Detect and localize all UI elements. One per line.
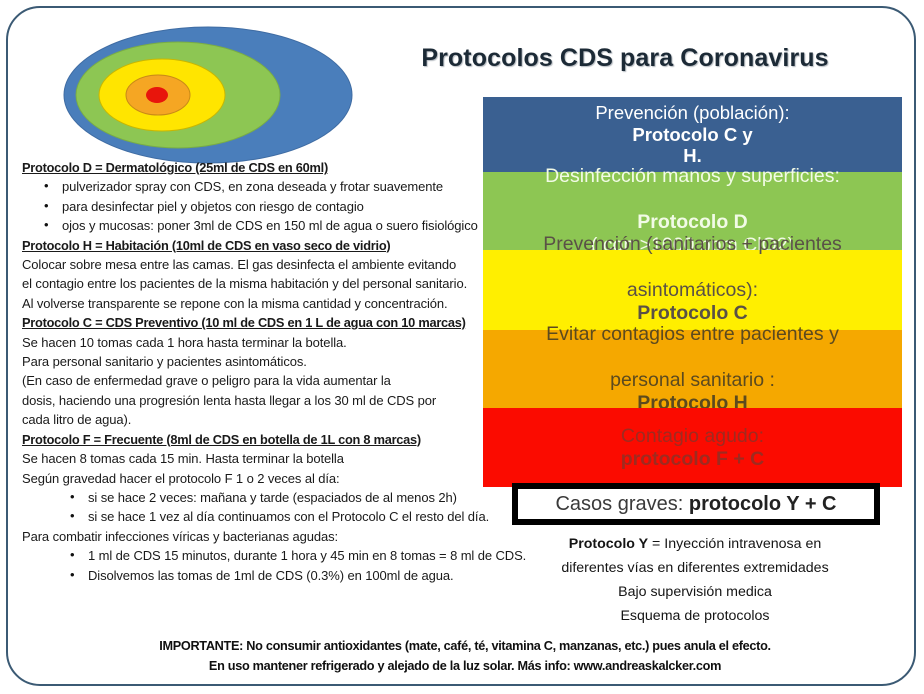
band-text: Desinfección manos y superficies:	[545, 165, 840, 188]
protocolo-h-heading: Protocolo H = Habitación (10ml de CDS en…	[22, 236, 492, 255]
protocolo-y-line3: Bajo supervisión medica	[490, 580, 900, 604]
list-item: ojos y mucosas: poner 3ml de CDS en 150 …	[62, 216, 492, 235]
concentric-ellipses-logo	[62, 24, 354, 166]
poster-canvas: Protocolos CDS para Coronavirus Protocol…	[0, 0, 924, 694]
list-item: pulverizador spray con CDS, en zona dese…	[62, 177, 492, 196]
band-prevencion-poblacion: Prevención (población): Protocolo C y H.	[483, 97, 902, 172]
band-text-bold: Protocolo C y	[632, 124, 752, 145]
protocolo-y-text: = Inyección intravenosa en	[648, 536, 821, 552]
list-item: si se hace 1 vez al día continuamos con …	[88, 507, 492, 526]
band-text-bold: protocolo F + C	[621, 448, 765, 470]
band-contagio-agudo: Contagio agudo: protocolo F + C	[483, 408, 902, 487]
footer-line-1: IMPORTANTE: No consumir antioxidantes (m…	[40, 636, 890, 656]
protocolo-y-block: Protocolo Y = Inyección intravenosa en d…	[490, 532, 900, 628]
protocolo-h-line: Al volverse transparente se repone con l…	[22, 294, 492, 313]
protocolo-c-line: (En caso de enfermedad grave o peligro p…	[22, 371, 492, 390]
protocolo-y-line1: Protocolo Y = Inyección intravenosa en	[490, 532, 900, 556]
band-text: personal sanitario :	[546, 369, 839, 392]
protocolo-d-bullets: pulverizador spray con CDS, en zona dese…	[22, 177, 492, 235]
protocols-text-column: Protocolo D = Dermatológico (25ml de CDS…	[22, 158, 492, 585]
band-text: asintomáticos):	[543, 279, 842, 302]
protocolo-f-closing-line: Para combatir infecciones víricas y bact…	[22, 527, 492, 546]
protocolo-f-heading: Protocolo F = Frecuente (8ml de CDS en b…	[22, 430, 492, 449]
protocolo-y-line4: Esquema de protocolos	[490, 604, 900, 628]
protocolo-y-line2: diferentes vías en diferentes extremidad…	[490, 556, 900, 580]
protocolo-c-line: Para personal sanitario y pacientes asin…	[22, 352, 492, 371]
band-text: Contagio agudo:	[621, 425, 765, 448]
band-text-bold: H.	[683, 145, 702, 166]
protocolo-f-line: Según gravedad hacer el protocolo F 1 o …	[22, 469, 492, 488]
protocolo-c-line: Se hacen 10 tomas cada 1 hora hasta term…	[22, 333, 492, 352]
protocolo-f-closing-bullets: 1 ml de CDS 15 minutos, durante 1 hora y…	[22, 546, 492, 585]
red-core-icon	[146, 87, 168, 103]
list-item: Disolvemos las tomas de 1ml de CDS (0.3%…	[88, 566, 492, 585]
protocolo-c-heading: Protocolo C = CDS Preventivo (10 ml de C…	[22, 313, 492, 332]
band-evitar-contagios: Evitar contagios entre pacientes y perso…	[483, 330, 902, 408]
protocolo-d-heading: Protocolo D = Dermatológico (25ml de CDS…	[22, 158, 492, 177]
footer-note: IMPORTANTE: No consumir antioxidantes (m…	[40, 636, 890, 676]
protocolo-y-label: Protocolo Y	[569, 536, 648, 552]
list-item: 1 ml de CDS 15 minutos, durante 1 hora y…	[88, 546, 492, 565]
protocolo-h-line: Colocar sobre mesa entre las camas. El g…	[22, 255, 492, 274]
page-title: Protocolos CDS para Coronavirus	[360, 44, 890, 73]
band-text: Prevención (población):	[595, 102, 789, 124]
list-item: si se hace 2 veces: mañana y tarde (espa…	[88, 488, 492, 507]
protocolo-f-bullets: si se hace 2 veces: mañana y tarde (espa…	[22, 488, 492, 527]
casos-graves-label: Casos graves:	[555, 493, 688, 515]
protocolo-c-line: dosis, haciendo una progresión lenta has…	[22, 391, 492, 410]
list-item: para desinfectar piel y objetos con ries…	[62, 197, 492, 216]
protocolo-f-line: Se hacen 8 tomas cada 15 min. Hasta term…	[22, 449, 492, 468]
casos-graves-value: protocolo Y + C	[689, 493, 837, 515]
band-text-bold: Protocolo D	[637, 211, 748, 233]
footer-line-2: En uso mantener refrigerado y alejado de…	[40, 656, 890, 676]
band-text-bold: Protocolo C	[637, 302, 748, 324]
band-prevencion-sanitarios: Prevención (sanitarios + pacientes asint…	[483, 250, 902, 330]
protocolo-c-line: cada litro de agua).	[22, 410, 492, 429]
protocolo-h-line: el contagio entre los pacientes de la mi…	[22, 274, 492, 293]
band-text: Evitar contagios entre pacientes y	[546, 323, 839, 346]
casos-graves-box: Casos graves: protocolo Y + C	[512, 483, 880, 525]
band-text: Prevención (sanitarios + pacientes	[543, 233, 842, 256]
